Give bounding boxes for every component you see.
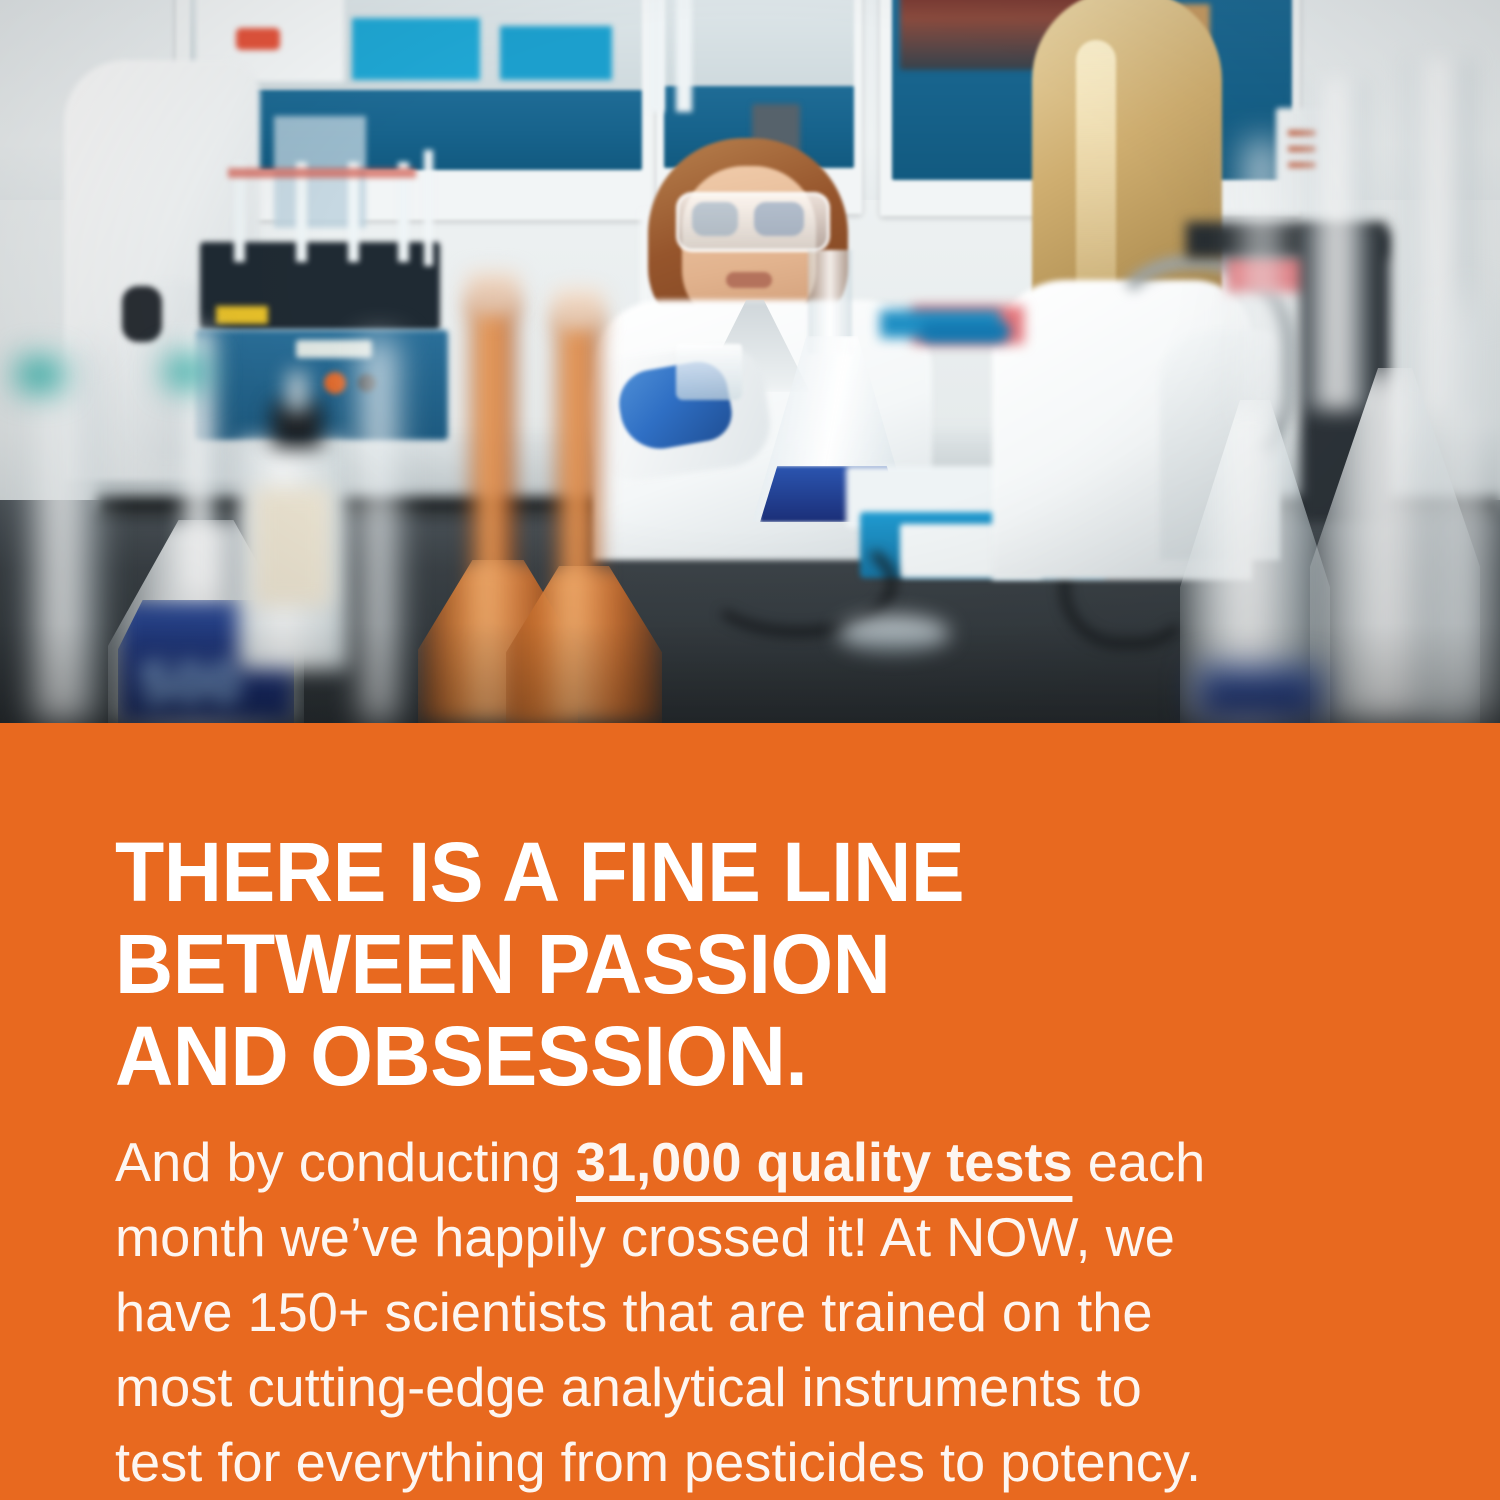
goggles-lens-left: [692, 202, 738, 236]
body-line-2: month we’ve happily crossed it! At NOW, …: [115, 1200, 1361, 1275]
burette-tops: [228, 168, 416, 178]
instrument-rack-yellow-strip: [216, 306, 268, 324]
glass-column-c: [1240, 140, 1284, 420]
back-instrument-blue-logo: [920, 322, 1010, 342]
lab-photo: 500: [0, 0, 1500, 723]
body-line-1-part-1: And by conducting: [115, 1131, 576, 1193]
foreground-cap-teal-b: [166, 358, 206, 386]
cabinet-box-red-label: [236, 28, 280, 50]
body-line-3: have 150+ scientists that are trained on…: [115, 1275, 1361, 1350]
foreground-bottle-neck: [288, 372, 306, 412]
headline-line-1: THERE IS A FINE LINE: [115, 826, 1353, 918]
foreground-flask-right-liquid: [1196, 668, 1320, 723]
burette-tall-rod: [424, 150, 433, 266]
foreground-bottle-label: [254, 488, 330, 606]
glass-column-a: [1306, 80, 1368, 410]
page-title: THERE IS A FINE LINE BETWEEN PASSION AND…: [115, 826, 1405, 1102]
amber-flask-b-stopper: [552, 288, 604, 330]
beaker-in-hand: [676, 344, 742, 400]
scientist-left-hand: [122, 286, 162, 342]
body-line-1-part-3: each: [1073, 1131, 1206, 1193]
headline-line-3: AND OBSESSION.: [115, 1010, 1353, 1102]
headline-line-2: BETWEEN PASSION: [115, 918, 1353, 1010]
foreground-glass-far-right: [1430, 300, 1500, 723]
body-copy: And by conducting 31,000 quality tests e…: [115, 1125, 1380, 1500]
cabinet-tube-b: [676, 0, 692, 112]
cabinet-box-teal: [352, 18, 480, 80]
foreground-glass-slim-left: [28, 350, 102, 723]
instrument-knob-red: [324, 372, 346, 394]
foreground-glass-mid: [360, 340, 400, 723]
scientist-center-mouth: [726, 272, 772, 288]
bench-dish: [838, 616, 950, 652]
cabinet-tube-a: [648, 0, 664, 112]
amber-flask-a-stopper: [466, 272, 520, 316]
body-line-5: test for everything from pesticides to p…: [115, 1425, 1361, 1500]
marketing-infographic: 500 THERE IS A FINE LINE BETWEEN PA: [0, 0, 1500, 1500]
body-line-1: And by conducting 31,000 quality tests e…: [115, 1125, 1361, 1200]
body-line-4: most cutting-edge analytical instruments…: [115, 1350, 1361, 1425]
goggles-lens-right: [754, 202, 804, 236]
cabinet-box-teal-2: [500, 26, 612, 80]
highlight-quality-tests: 31,000 quality tests: [576, 1131, 1073, 1202]
cabinet-mid-glass: [664, 0, 854, 88]
foreground-cap-teal-a: [18, 360, 62, 390]
